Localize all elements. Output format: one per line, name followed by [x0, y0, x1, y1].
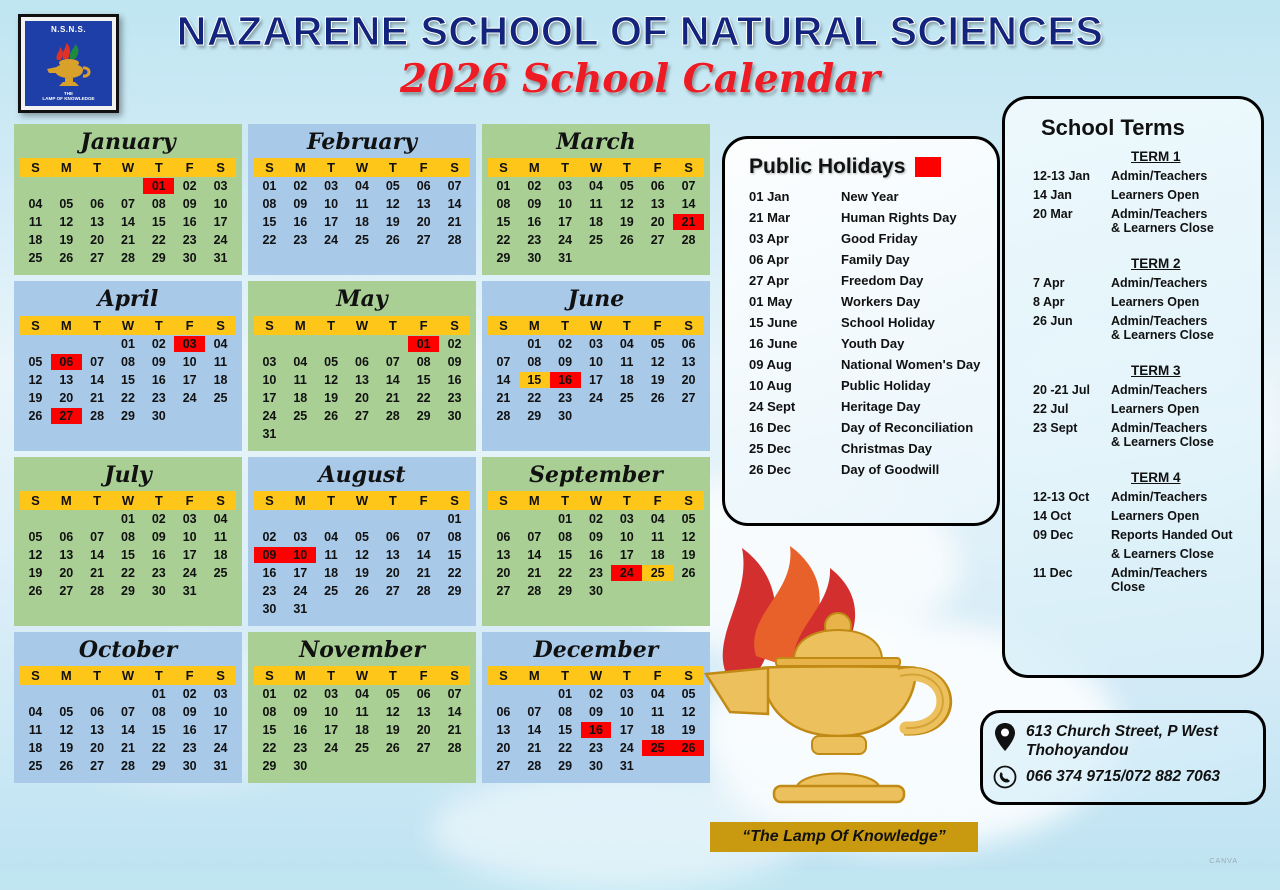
day-cell: 18 — [205, 371, 236, 389]
day-cell: 13 — [673, 353, 704, 371]
weekday-header: S — [673, 316, 704, 335]
day-cell-empty — [316, 600, 347, 618]
holiday-date: 10 Aug — [749, 378, 841, 393]
day-cell: 08 — [254, 195, 285, 213]
weekday-header: T — [82, 666, 113, 685]
day-cell: 18 — [347, 721, 378, 739]
day-cell: 23 — [519, 231, 550, 249]
day-cell: 05 — [51, 703, 82, 721]
day-cell: 27 — [347, 407, 378, 425]
day-cell: 20 — [347, 389, 378, 407]
weekday-header: W — [347, 316, 378, 335]
day-cell-empty — [347, 757, 378, 775]
day-cell: 07 — [488, 353, 519, 371]
day-cell-empty — [347, 425, 378, 443]
day-cell: 04 — [285, 353, 316, 371]
day-cell: 27 — [488, 757, 519, 775]
day-cell: 08 — [408, 353, 439, 371]
term-description: Learners Open — [1111, 402, 1199, 416]
week-row: 06070809101112 — [488, 528, 704, 546]
month-december: DecemberSMTWTFS0102030405060708091011121… — [482, 632, 710, 783]
week-row: 08091011121314 — [488, 195, 704, 213]
day-cell: 29 — [143, 249, 174, 267]
day-cell-holiday: 21 — [673, 213, 704, 231]
day-cell: 12 — [51, 721, 82, 739]
weekday-header: M — [285, 316, 316, 335]
holiday-name: Family Day — [841, 252, 910, 267]
day-cell: 25 — [205, 389, 236, 407]
term-row: 22 JulLearners Open — [1019, 402, 1247, 416]
holiday-name: Day of Goodwill — [841, 462, 939, 477]
week-row: 2728293031 — [488, 757, 704, 775]
term-heading: TERM 3 — [1131, 363, 1247, 378]
day-cell-empty — [20, 685, 51, 703]
day-cell: 14 — [82, 371, 113, 389]
day-cell: 21 — [488, 389, 519, 407]
day-cell-empty — [377, 510, 408, 528]
public-holiday-row: 25 DecChristmas Day — [741, 441, 981, 456]
weekday-header: W — [581, 158, 612, 177]
day-cell: 03 — [254, 353, 285, 371]
day-cell: 21 — [377, 389, 408, 407]
term-date: 09 Dec — [1019, 528, 1111, 542]
day-cell: 23 — [254, 582, 285, 600]
week-row: 13141516171819 — [488, 721, 704, 739]
day-cell-empty — [642, 249, 673, 267]
weekday-header: T — [316, 316, 347, 335]
day-cell: 05 — [377, 685, 408, 703]
day-cell: 03 — [174, 510, 205, 528]
day-cell: 13 — [51, 371, 82, 389]
day-cell: 01 — [143, 685, 174, 703]
weekday-header: S — [488, 316, 519, 335]
day-cell-empty — [316, 757, 347, 775]
day-cell-holiday: 16 — [581, 721, 612, 739]
day-cell: 25 — [316, 582, 347, 600]
day-cell: 11 — [581, 195, 612, 213]
day-cell: 13 — [642, 195, 673, 213]
day-cell: 24 — [174, 389, 205, 407]
weekday-header: S — [439, 316, 470, 335]
week-row: 17181920212223 — [254, 389, 470, 407]
day-cell: 22 — [113, 564, 144, 582]
day-cell: 04 — [642, 510, 673, 528]
weekday-header: T — [143, 158, 174, 177]
day-cell: 14 — [377, 371, 408, 389]
day-cell: 15 — [439, 546, 470, 564]
weekday-header: S — [488, 491, 519, 510]
day-cell: 04 — [642, 685, 673, 703]
day-cell: 18 — [611, 371, 642, 389]
day-cell: 21 — [82, 564, 113, 582]
day-cell: 26 — [51, 249, 82, 267]
holiday-date: 09 Aug — [749, 357, 841, 372]
day-cell: 12 — [347, 546, 378, 564]
term-row: 09 DecReports Handed Out — [1019, 528, 1247, 542]
day-cell: 31 — [254, 425, 285, 443]
month-january: JanuarySMTWTFS01020304050607080910111213… — [14, 124, 242, 275]
day-cell: 20 — [51, 564, 82, 582]
address-line-1: 613 Church Street, P West — [1026, 722, 1218, 741]
day-cell: 15 — [113, 546, 144, 564]
week-row: 23242526272829 — [254, 582, 470, 600]
day-cell: 30 — [285, 757, 316, 775]
day-cell: 17 — [174, 371, 205, 389]
day-cell: 24 — [205, 231, 236, 249]
day-cell: 21 — [439, 721, 470, 739]
weekday-header: S — [205, 158, 236, 177]
day-cell: 20 — [408, 213, 439, 231]
holiday-name: Heritage Day — [841, 399, 920, 414]
term-description: Admin/Teachers — [1111, 276, 1207, 290]
weekday-header: M — [285, 666, 316, 685]
week-row: 08091011121314 — [254, 703, 470, 721]
week-row: 11121314151617 — [20, 213, 236, 231]
day-cell: 06 — [642, 177, 673, 195]
day-cell-empty — [408, 425, 439, 443]
day-cell: 25 — [285, 407, 316, 425]
term-row: 23 SeptAdmin/Teachers& Learners Close — [1019, 421, 1247, 449]
public-holiday-row: 27 AprFreedom Day — [741, 273, 981, 288]
term-description: & Learners Close — [1111, 547, 1214, 561]
day-cell: 12 — [642, 353, 673, 371]
day-cell-highlight: 15 — [519, 371, 550, 389]
weekday-header: M — [285, 158, 316, 177]
day-cell-empty — [642, 582, 673, 600]
term-row: 26 JunAdmin/Teachers& Learners Close — [1019, 314, 1247, 342]
day-cell: 08 — [113, 353, 144, 371]
day-cell: 02 — [581, 685, 612, 703]
day-cell-empty — [581, 407, 612, 425]
day-cell: 09 — [174, 703, 205, 721]
school-terms-title: School Terms — [1041, 115, 1247, 141]
weekday-header: W — [347, 491, 378, 510]
day-cell: 30 — [519, 249, 550, 267]
week-row: 18192021222324 — [20, 739, 236, 757]
day-cell: 06 — [82, 703, 113, 721]
week-row: 04050607080910 — [20, 703, 236, 721]
day-cell: 05 — [347, 528, 378, 546]
week-row: 01020304050607 — [488, 177, 704, 195]
day-cell-empty — [113, 685, 144, 703]
crest-lamp-icon — [41, 43, 97, 91]
public-holiday-row: 10 AugPublic Holiday — [741, 378, 981, 393]
weekday-header: T — [377, 158, 408, 177]
week-row: 01020304050607 — [254, 177, 470, 195]
day-cell: 18 — [642, 546, 673, 564]
day-cell: 10 — [205, 703, 236, 721]
day-cell: 10 — [316, 195, 347, 213]
holiday-name: Christmas Day — [841, 441, 932, 456]
holiday-date: 26 Dec — [749, 462, 841, 477]
day-cell: 12 — [20, 371, 51, 389]
day-cell: 18 — [642, 721, 673, 739]
day-cell: 09 — [581, 528, 612, 546]
weekday-header: S — [254, 491, 285, 510]
public-holiday-row: 03 AprGood Friday — [741, 231, 981, 246]
term-block-2: TERM 27 AprAdmin/Teachers8 AprLearners O… — [1019, 256, 1247, 342]
day-cell: 10 — [174, 353, 205, 371]
day-cell: 10 — [611, 528, 642, 546]
day-cell: 09 — [581, 703, 612, 721]
day-cell-empty — [51, 335, 82, 353]
day-cell: 27 — [408, 739, 439, 757]
day-cell: 16 — [143, 371, 174, 389]
day-cell: 13 — [51, 546, 82, 564]
month-name: November — [254, 636, 470, 666]
month-may: MaySMTWTFS010203040506070809101112131415… — [248, 281, 476, 450]
day-cell: 23 — [285, 739, 316, 757]
day-cell: 21 — [439, 213, 470, 231]
day-cell: 22 — [550, 564, 581, 582]
day-cell-holiday: 01 — [408, 335, 439, 353]
weekday-header: T — [377, 316, 408, 335]
weekday-header: F — [642, 316, 673, 335]
term-row: & Learners Close — [1019, 547, 1247, 561]
day-cell: 19 — [20, 389, 51, 407]
day-cell: 15 — [143, 213, 174, 231]
weekday-header: S — [439, 491, 470, 510]
week-row: 25262728293031 — [20, 249, 236, 267]
day-cell: 14 — [673, 195, 704, 213]
day-cell: 14 — [488, 371, 519, 389]
day-cell: 23 — [143, 389, 174, 407]
page-title: NAZARENE SCHOOL OF NATURAL SCIENCES — [120, 8, 1160, 55]
day-cell: 19 — [51, 231, 82, 249]
day-cell: 19 — [642, 371, 673, 389]
day-cell: 05 — [611, 177, 642, 195]
day-cell: 05 — [673, 510, 704, 528]
day-cell-empty — [377, 757, 408, 775]
day-cell: 18 — [581, 213, 612, 231]
day-cell: 16 — [143, 546, 174, 564]
week-row: 06070809101112 — [488, 703, 704, 721]
month-name: July — [20, 461, 236, 491]
day-cell: 14 — [113, 213, 144, 231]
day-cell: 09 — [285, 703, 316, 721]
week-row: 010203 — [20, 177, 236, 195]
day-cell: 18 — [347, 213, 378, 231]
day-cell: 17 — [205, 213, 236, 231]
day-cell: 07 — [439, 685, 470, 703]
term-row: 14 OctLearners Open — [1019, 509, 1247, 523]
public-holidays-list: 01 JanNew Year21 MarHuman Rights Day03 A… — [741, 189, 981, 477]
weekday-header: S — [439, 666, 470, 685]
week-row: 14151617181920 — [488, 371, 704, 389]
holiday-name: Youth Day — [841, 336, 904, 351]
day-cell: 23 — [581, 564, 612, 582]
day-cell: 06 — [347, 353, 378, 371]
day-cell: 02 — [519, 177, 550, 195]
day-cell-holiday: 06 — [51, 353, 82, 371]
term-description: Reports Handed Out — [1111, 528, 1233, 542]
day-cell: 14 — [439, 195, 470, 213]
day-cell: 19 — [51, 739, 82, 757]
day-cell: 28 — [408, 582, 439, 600]
school-terms-panel: School Terms TERM 112-13 JanAdmin/Teache… — [1002, 96, 1264, 678]
day-cell: 18 — [20, 739, 51, 757]
day-cell: 04 — [205, 335, 236, 353]
day-cell: 09 — [285, 195, 316, 213]
day-cell: 07 — [377, 353, 408, 371]
day-cell: 15 — [143, 721, 174, 739]
weekday-header: S — [439, 158, 470, 177]
public-holiday-row: 15 JuneSchool Holiday — [741, 315, 981, 330]
public-holiday-row: 01 MayWorkers Day — [741, 294, 981, 309]
holiday-name: Freedom Day — [841, 273, 923, 288]
address-line-2: Thohoyandou — [1026, 741, 1218, 760]
day-cell: 24 — [316, 739, 347, 757]
term-spacer — [1019, 240, 1247, 256]
weekday-header: M — [285, 491, 316, 510]
weekday-header: T — [550, 158, 581, 177]
term-date: 8 Apr — [1019, 295, 1111, 309]
day-cell: 23 — [174, 739, 205, 757]
weekday-header: S — [205, 666, 236, 685]
day-cell: 08 — [254, 703, 285, 721]
week-row: 22232425262728 — [254, 739, 470, 757]
day-cell-empty — [254, 335, 285, 353]
term-date: 11 Dec — [1019, 566, 1111, 594]
day-cell-empty — [611, 249, 642, 267]
day-cell: 13 — [488, 721, 519, 739]
week-row: 07080910111213 — [488, 353, 704, 371]
month-name: August — [254, 461, 470, 491]
day-cell: 04 — [611, 335, 642, 353]
day-cell: 19 — [611, 213, 642, 231]
day-cell: 03 — [205, 177, 236, 195]
day-cell: 08 — [550, 703, 581, 721]
weekday-header: M — [51, 158, 82, 177]
week-row: 010203040506 — [488, 335, 704, 353]
day-cell: 29 — [488, 249, 519, 267]
day-cell: 20 — [488, 564, 519, 582]
day-cell: 29 — [439, 582, 470, 600]
day-cell: 07 — [113, 195, 144, 213]
day-cell-empty — [642, 407, 673, 425]
week-row: 3031 — [254, 600, 470, 618]
day-cell: 28 — [488, 407, 519, 425]
month-june: JuneSMTWTFS01020304050607080910111213141… — [482, 281, 710, 450]
day-cell: 31 — [205, 249, 236, 267]
day-cell: 20 — [82, 739, 113, 757]
weekday-header: M — [519, 316, 550, 335]
holiday-name: New Year — [841, 189, 899, 204]
day-cell: 10 — [316, 703, 347, 721]
day-cell: 23 — [174, 231, 205, 249]
day-cell: 30 — [581, 582, 612, 600]
day-cell: 03 — [581, 335, 612, 353]
day-cell: 21 — [519, 739, 550, 757]
day-cell: 03 — [611, 685, 642, 703]
weekday-header: F — [408, 491, 439, 510]
day-cell-empty — [285, 335, 316, 353]
public-holidays-panel: Public Holidays 01 JanNew Year21 MarHuma… — [722, 136, 1000, 526]
holiday-name: National Women's Day — [841, 357, 980, 372]
week-row: 15161718192021 — [254, 213, 470, 231]
day-cell-empty — [673, 249, 704, 267]
weekday-header: S — [254, 316, 285, 335]
term-description: Admin/Teachers — [1111, 383, 1207, 397]
week-row: 19202122232425 — [20, 564, 236, 582]
day-cell: 02 — [285, 685, 316, 703]
public-holiday-row: 06 AprFamily Day — [741, 252, 981, 267]
weekday-header: T — [550, 666, 581, 685]
day-cell: 01 — [439, 510, 470, 528]
day-cell: 17 — [254, 389, 285, 407]
day-cell: 05 — [316, 353, 347, 371]
weekday-header: T — [377, 666, 408, 685]
day-cell: 27 — [51, 582, 82, 600]
day-cell: 20 — [488, 739, 519, 757]
day-cell: 19 — [20, 564, 51, 582]
day-cell: 25 — [205, 564, 236, 582]
day-cell: 30 — [439, 407, 470, 425]
week-row: 21222324252627 — [488, 389, 704, 407]
day-cell: 02 — [550, 335, 581, 353]
day-cell: 22 — [254, 739, 285, 757]
day-cell-empty — [519, 685, 550, 703]
day-cell: 29 — [113, 582, 144, 600]
month-name: March — [488, 128, 704, 158]
day-cell-empty — [611, 582, 642, 600]
day-cell-empty — [316, 510, 347, 528]
month-april: AprilSMTWTFS0102030405060708091011121314… — [14, 281, 242, 450]
day-cell: 01 — [519, 335, 550, 353]
month-october: OctoberSMTWTFS01020304050607080910111213… — [14, 632, 242, 783]
month-name: June — [488, 285, 704, 315]
weekday-header: F — [174, 491, 205, 510]
day-cell: 17 — [205, 721, 236, 739]
day-cell: 07 — [408, 528, 439, 546]
day-cell: 21 — [408, 564, 439, 582]
day-cell: 25 — [611, 389, 642, 407]
day-cell-empty — [488, 510, 519, 528]
weekday-header: S — [20, 158, 51, 177]
day-cell: 17 — [174, 546, 205, 564]
day-cell: 31 — [205, 757, 236, 775]
day-cell: 31 — [611, 757, 642, 775]
day-cell: 25 — [581, 231, 612, 249]
weekday-header: T — [316, 158, 347, 177]
day-cell: 27 — [488, 582, 519, 600]
day-cell: 07 — [439, 177, 470, 195]
day-cell: 09 — [143, 353, 174, 371]
day-cell: 26 — [611, 231, 642, 249]
weekday-header: S — [254, 666, 285, 685]
day-cell: 25 — [347, 739, 378, 757]
day-cell: 15 — [550, 721, 581, 739]
day-cell: 10 — [611, 703, 642, 721]
day-cell: 11 — [205, 528, 236, 546]
week-row: 31 — [254, 425, 470, 443]
day-cell: 01 — [254, 685, 285, 703]
day-cell: 29 — [519, 407, 550, 425]
week-row: 04050607080910 — [20, 195, 236, 213]
term-description: Admin/Teachers — [1111, 169, 1207, 183]
holiday-date: 01 May — [749, 294, 841, 309]
day-cell-empty — [488, 335, 519, 353]
day-cell-empty — [51, 177, 82, 195]
day-cell-holiday: 24 — [611, 564, 642, 582]
weekday-header: T — [143, 316, 174, 335]
day-cell: 08 — [519, 353, 550, 371]
day-cell: 08 — [143, 703, 174, 721]
week-row: 05060708091011 — [20, 353, 236, 371]
holiday-date: 06 Apr — [749, 252, 841, 267]
day-cell: 09 — [143, 528, 174, 546]
day-cell-empty — [347, 335, 378, 353]
